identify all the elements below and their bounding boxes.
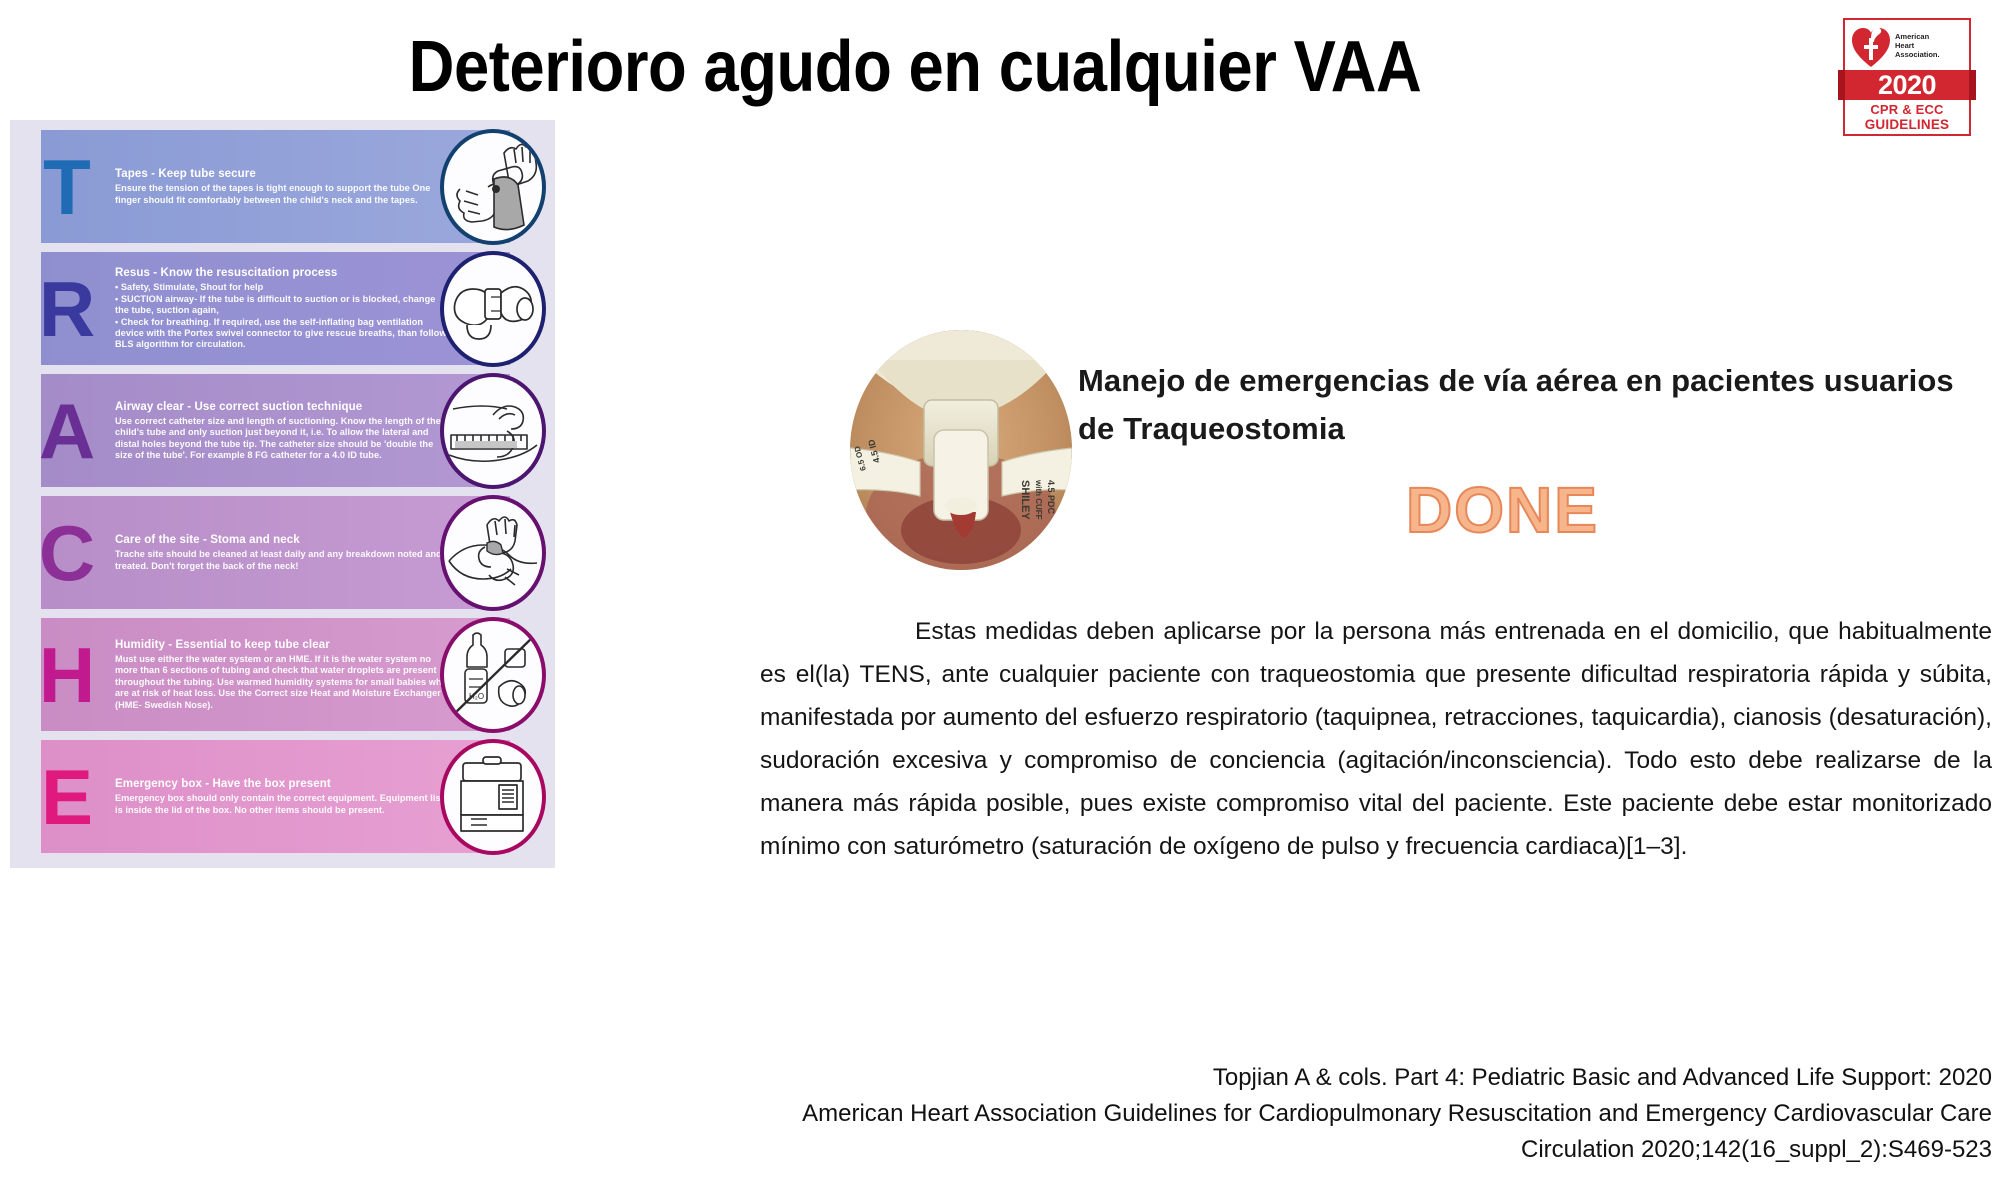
svg-text:4.5 PDC: 4.5 PDC [1046,480,1056,515]
row-body: Use correct catheter size and length of … [115,416,450,462]
row-heading: Airway clear - Use correct suction techn… [115,400,450,414]
section-heading: Manejo de emergencias de vía aérea en pa… [1078,357,1958,453]
body-paragraph-text: Estas medidas deben aplicarse por la per… [760,618,1992,860]
heart-torch-icon [1851,26,1891,68]
hands-securing-tracheostomy-tapes-icon [440,129,546,245]
row-heading: Tapes - Keep tube secure [115,167,450,181]
row-letter: T [19,139,115,235]
trache-row: E Emergency box - Have the box present E… [19,740,546,853]
trache-row: A Airway clear - Use correct suction tec… [19,374,546,487]
logo-year-band: 2020 [1843,70,1971,100]
row-heading: Resus - Know the resuscitation process [115,266,450,280]
aha-wordmark: American Heart Association. [1895,33,1940,60]
logo-subtitle-cpr-ecc: CPR & ECC [1845,100,1969,117]
row-body: Must use either the water system or an H… [115,654,450,711]
suction-catheter-measuring-icon [440,373,546,489]
aha-wordmark-line3: Association. [1895,51,1940,60]
aha-logo-top: American Heart Association. [1845,20,1969,70]
aha-guidelines-logo: American Heart Association. 2020 CPR & E… [1843,18,1971,136]
citation-reference: Topjian A & cols. Part 4: Pediatric Basi… [700,1060,1992,1168]
humidifier-bottle-hme-icon: H₂O [440,617,546,733]
row-letter: H [19,627,115,723]
row-body: Emergency box should only contain the co… [115,793,450,816]
stoma-site-cleaning-icon [440,495,546,611]
svg-text:SHILEY: SHILEY [1019,480,1031,520]
body-paragraph: Estas medidas deben aplicarse por la per… [760,610,1992,868]
row-body: • Safety, Stimulate, Shout for help • SU… [115,282,450,350]
trache-row: H Humidity - Essential to keep tube clea… [19,618,546,731]
citation-line-2: American Heart Association Guidelines fo… [700,1096,1992,1132]
page-title: Deterioro agudo en cualquier VAA [110,30,1720,106]
status-badge-done: DONE [1406,478,1599,542]
row-letter: R [19,261,115,357]
row-letter: C [19,505,115,601]
row-heading: Emergency box - Have the box present [115,777,450,791]
trache-row: T Tapes - Keep tube secure Ensure the te… [19,130,546,243]
row-heading: Care of the site - Stoma and neck [115,533,450,547]
trache-infographic-poster: T Tapes - Keep tube secure Ensure the te… [10,120,555,868]
trache-row: R Resus - Know the resuscitation process… [19,252,546,365]
row-letter: A [19,383,115,479]
logo-subtitle-guidelines: GUIDELINES [1845,117,1969,132]
row-heading: Humidity - Essential to keep tube clear [115,638,450,652]
emergency-box-icon [440,739,546,855]
citation-line-1: Topjian A & cols. Part 4: Pediatric Basi… [700,1060,1992,1096]
row-body: Trache site should be cleaned at least d… [115,549,450,572]
trache-row: C Care of the site - Stoma and neck Trac… [19,496,546,609]
svg-text:with CUFF: with CUFF [1034,479,1043,520]
row-letter: E [19,749,115,845]
tracheostomy-stoma-photo: SHILEY with CUFF 4.5 PDC 4.5 ID 6.5 OD [850,330,1072,570]
citation-line-3: Circulation 2020;142(16_suppl_2):S469-52… [700,1132,1992,1168]
bag-valve-swivel-connector-icon [440,251,546,367]
row-body: Ensure the tension of the tapes is tight… [115,183,450,206]
